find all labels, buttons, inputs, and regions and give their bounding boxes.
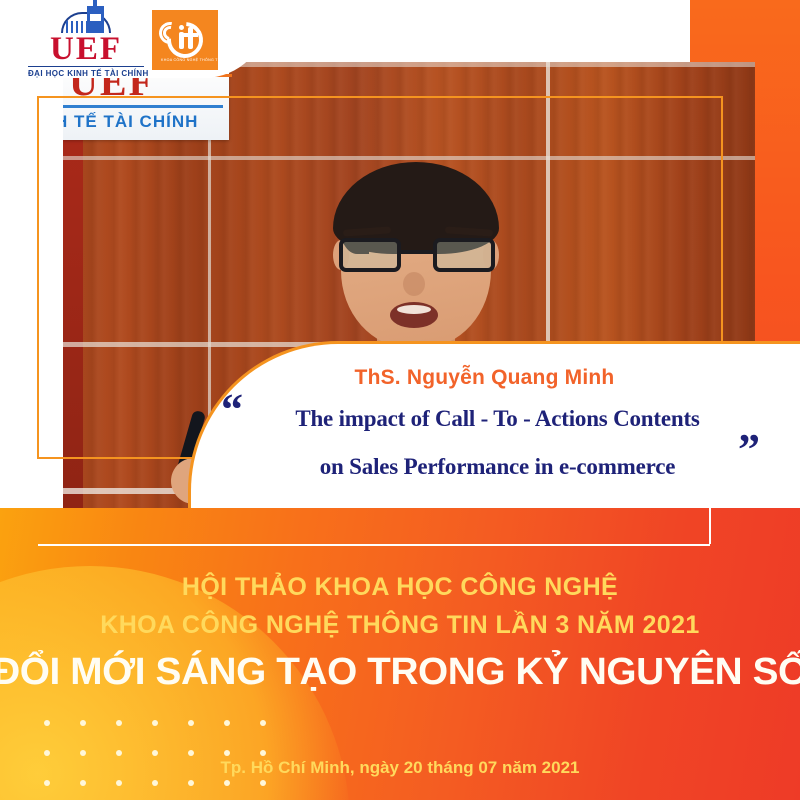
glasses-bridge [399,250,437,254]
bottom-banner: HỘI THẢO KHOA HỌC CÔNG NGHỆ KHOA CÔNG NG… [0,508,800,800]
banner-rule [63,105,223,108]
header-logo-pocket: UEF ĐẠI HỌC KINH TẾ TÀI CHÍNH KHOA CÔNG … [0,0,268,78]
white-rule-horizontal [38,544,710,546]
speaker-nose [403,272,425,296]
event-headline: ĐỔI MỚI SÁNG TẠO TRONG KỶ NGUYÊN SỐ [0,651,800,694]
event-subtitle-line-2: KHOA CÔNG NGHỆ THÔNG TIN LẦN 3 NĂM 2021 [0,611,800,640]
glasses-lens-right [433,238,495,272]
poster-canvas: UEF H TẾ TÀI CHÍNH [0,0,800,800]
quote-line-2: on Sales Performance in e-commerce [225,454,770,480]
event-date-location: Tp. Hồ Chí Minh, ngày 20 tháng 07 năm 20… [0,758,800,778]
white-rule-vertical [709,508,711,544]
it-wifi-icon: KHOA CÔNG NGHỆ THÔNG TIN [161,20,209,60]
speaker-glasses [339,238,495,272]
quote-line-1: The impact of Call - To - Actions Conten… [225,406,770,432]
quote-close-mark: ” [738,428,760,472]
uef-banner-sign: UEF H TẾ TÀI CHÍNH [63,72,229,140]
banner-subtitle: H TẾ TÀI CHÍNH [63,112,198,132]
uef-building-icon [57,6,115,33]
event-subtitle-line-1: HỘI THẢO KHOA HỌC CÔNG NGHỆ [0,573,800,602]
uef-subtitle: ĐẠI HỌC KINH TẾ TÀI CHÍNH [28,66,144,78]
wall-seam [63,156,755,160]
uef-logo[interactable]: UEF ĐẠI HỌC KINH TẾ TÀI CHÍNH [26,6,146,72]
speaker-name: ThS. Nguyễn Quang Minh [191,366,778,390]
speaker-mouth [390,302,438,328]
glasses-lens-left [339,238,401,272]
it-logo-caption: KHOA CÔNG NGHỆ THÔNG TIN [161,58,209,62]
it-faculty-logo[interactable]: KHOA CÔNG NGHỆ THÔNG TIN [152,10,218,70]
quote-panel: ThS. Nguyễn Quang Minh “ The impact of C… [188,341,800,508]
uef-wordmark: UEF [26,32,146,66]
